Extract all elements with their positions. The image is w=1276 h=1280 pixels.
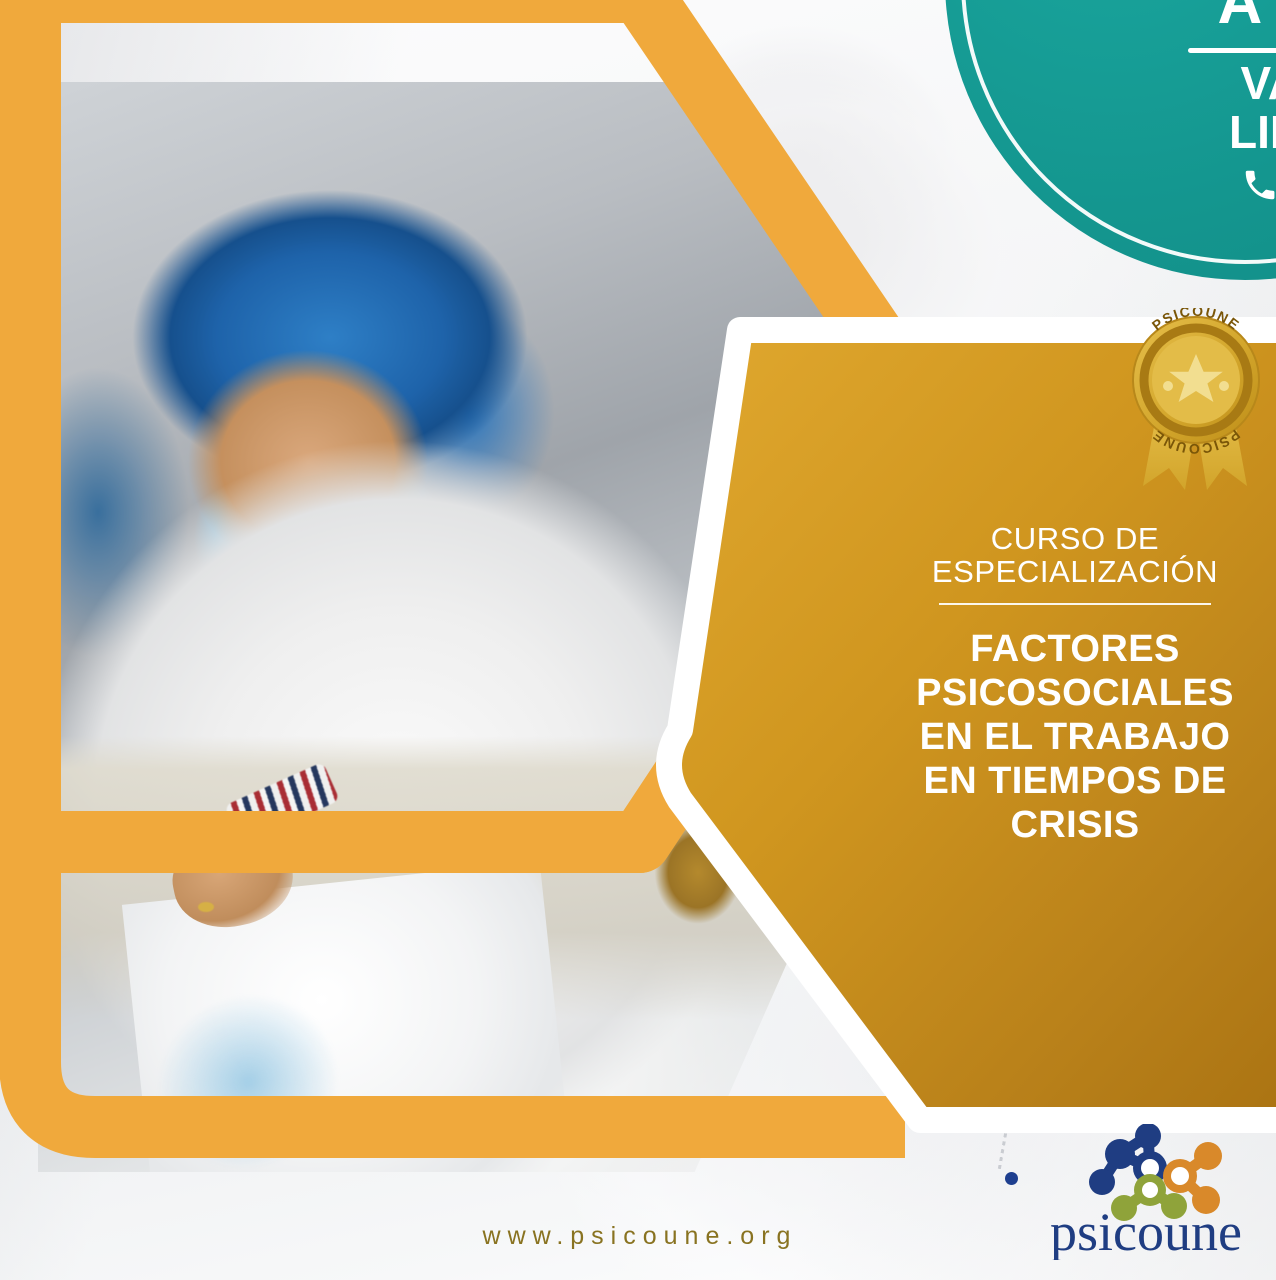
phone-row[interactable]: 958: [1241, 163, 1276, 207]
website-url[interactable]: www.psicoune.org: [430, 1222, 850, 1251]
psicoune-medal-seal: PSICOUNE PSICOUNE: [1113, 308, 1276, 498]
price-divider: [1188, 48, 1276, 53]
zipper-pull-dot: [1005, 1172, 1018, 1185]
course-kicker: CURSO DE ESPECIALIZACIÓN: [900, 522, 1250, 589]
vacancies-line1: VACA: [1241, 59, 1276, 108]
panel-text-block: CURSO DE ESPECIALIZACIÓN FACTORES PSICOS…: [900, 522, 1250, 847]
logo-wordmark: psicoune: [1050, 1202, 1242, 1260]
phone-icon: [1241, 166, 1276, 204]
kicker-divider: [939, 603, 1211, 605]
course-title: FACTORES PSICOSOCIALES EN EL TRABAJO EN …: [900, 627, 1250, 847]
psicoune-logo: psicoune: [1028, 1124, 1264, 1260]
poster-canvas: CURSO DE ESPECIALIZACIÓN FACTORES PSICOS…: [0, 0, 1276, 1280]
course-kicker-line2: ESPECIALIZACIÓN: [900, 555, 1250, 588]
course-kicker-line1: CURSO DE: [900, 522, 1250, 555]
vacancies-line2: LIMITA: [1229, 108, 1276, 157]
price-text: A S/.4: [1218, 0, 1276, 34]
teal-price-badge: A S/.4 VACA LIMITA 958: [945, 0, 1276, 280]
teal-badge-content: A S/.4 VACA LIMITA 958: [945, 0, 1276, 280]
